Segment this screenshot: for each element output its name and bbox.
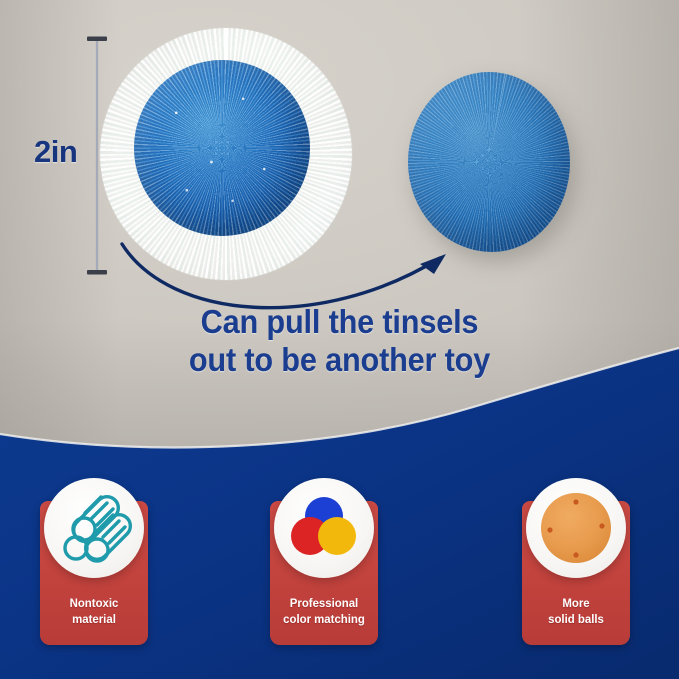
product-infographic: 2in Can pull the tinsels out to be anoth… [0, 0, 679, 679]
blue-ball-fuzz [408, 72, 570, 252]
card-label: More solid balls [525, 595, 628, 627]
card-label-line-1: Nontoxic [70, 596, 119, 610]
feature-cards: Nontoxic material Professional color mat… [0, 478, 679, 653]
card-label-line-1: Professional [290, 596, 358, 610]
fiber-bundle-icon [44, 478, 144, 578]
card-label-line-1: More [562, 596, 589, 610]
color-circles-icon [274, 478, 374, 578]
feature-card-more-solid-balls[interactable]: More solid balls [522, 478, 630, 645]
feature-card-color-matching[interactable]: Professional color matching [270, 478, 378, 645]
card-label-line-2: material [72, 612, 116, 626]
blue-pom-pom-ball [408, 72, 570, 252]
dimension-label: 2in [34, 134, 77, 170]
solid-ball-icon [526, 478, 626, 578]
dimension-line [86, 34, 108, 278]
card-label: Professional color matching [273, 595, 376, 627]
card-label-line-2: solid balls [548, 612, 604, 626]
tinsel-sparkles [134, 60, 310, 236]
feature-card-nontoxic-material[interactable]: Nontoxic material [40, 478, 148, 645]
card-label: Nontoxic material [43, 595, 146, 627]
card-label-line-2: color matching [283, 612, 365, 626]
